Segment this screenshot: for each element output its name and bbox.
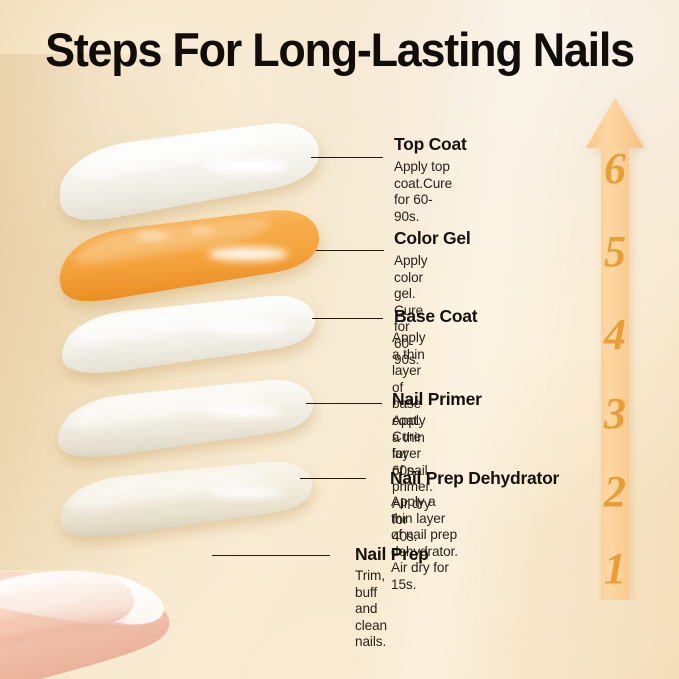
leader-line-top-coat [311,157,383,158]
step-title-top-coat: Top Coat [394,134,467,155]
step-description-top-coat: Apply top coat.Cure for 60-90s. [394,159,452,225]
step-title-base-coat: Base Coat [394,306,477,327]
leader-line-nail-prep-dehydrator [300,478,366,479]
step-label-list: Top Coat Apply top coat.Cure for 60-90s.… [0,0,679,679]
leader-line-base-coat [312,318,383,319]
leader-line-nail-prep [212,555,330,556]
step-title-nail-primer: Nail Primer [392,389,482,410]
leader-line-nail-primer [306,403,382,404]
page-title: Steps For Long-Lasting Nails [15,25,663,74]
step-description-nail-prep: Trim, buff and clean nails. [355,568,387,651]
step-title-nail-prep: Nail Prep [355,544,429,565]
step-title-nail-prep-dehydrator: Nail Prep Dehydrator [390,468,559,489]
step-title-color-gel: Color Gel [394,228,471,249]
leader-line-color-gel [316,250,384,251]
